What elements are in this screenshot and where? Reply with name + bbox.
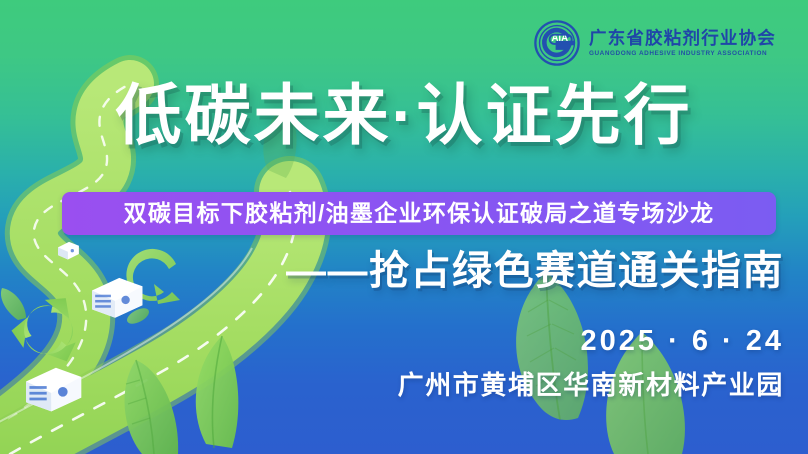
association-name-en: GUANGDONG ADHESIVE INDUSTRY ASSOCIATION [589, 50, 776, 58]
association-logo-icon: AIA [534, 20, 580, 66]
leaf-floating-center-group [125, 305, 152, 327]
recycle-arrows-large-group [8, 293, 81, 368]
poster-tagline: ——抢占绿色赛道通关指南 [0, 250, 784, 293]
delivery-truck-lower-group [26, 368, 81, 412]
poster-headline: 低碳未来·认证先行 [0, 82, 808, 148]
subtitle-banner: 双碳目标下胶粘剂/油墨企业环保认证破局之道专场沙龙 [62, 192, 776, 235]
leaf-medium-bottom-group [125, 360, 179, 454]
association-name-cn: 广东省胶粘剂行业协会 [589, 28, 776, 48]
event-venue: 广州市黄埔区华南新材料产业园 [398, 372, 784, 398]
event-poster: AIA 广东省胶粘剂行业协会 GUANGDONG ADHESIVE INDUST… [0, 0, 808, 454]
association-logo-text: 广东省胶粘剂行业协会 GUANGDONG ADHESIVE INDUSTRY A… [589, 28, 776, 58]
subtitle-banner-text: 双碳目标下胶粘剂/油墨企业环保认证破局之道专场沙龙 [124, 202, 715, 225]
leaf-large-bottom-group [196, 336, 239, 448]
event-date: 2025 · 6 · 24 [581, 327, 784, 356]
association-logo: AIA 广东省胶粘剂行业协会 GUANGDONG ADHESIVE INDUST… [534, 20, 776, 66]
